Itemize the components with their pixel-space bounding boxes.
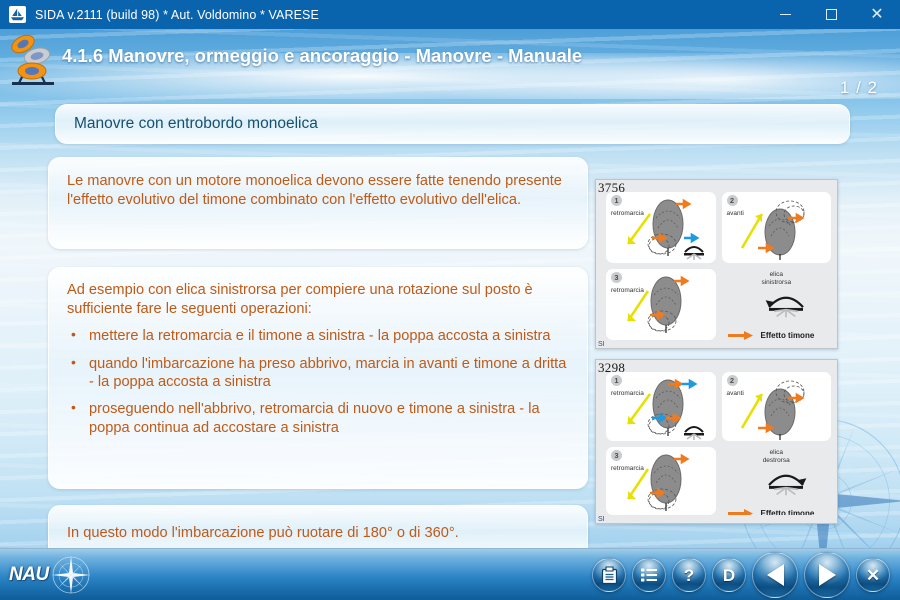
figure-cell-grid: 1 retromarcia <box>606 372 831 515</box>
boat-diagram-astern-2 <box>606 269 716 339</box>
figure-panel-destrorsa[interactable]: 3298 SI 1 retromarcia <box>595 359 838 524</box>
figure-cell-3: 3 retromarcia <box>606 269 716 340</box>
boat-diagram-astern-2 <box>606 447 716 516</box>
legend-item-rudder: Effetto timone <box>728 509 815 516</box>
step-badge: 3 <box>611 272 622 283</box>
brand-label: NAU <box>9 564 49 586</box>
legend-label: Effetto timone <box>761 509 815 516</box>
conclusion-text: In questo modo l'imbarcazione può ruotar… <box>67 524 459 543</box>
arrow-right-icon <box>819 564 836 586</box>
example-card: Ad esempio con elica sinistrorsa per com… <box>48 267 588 489</box>
close-button[interactable]: ✕ <box>856 558 890 592</box>
figure-cell-1: 1 retromarcia <box>606 372 716 441</box>
page-counter: 1 / 2 <box>840 78 878 98</box>
figure-cell-3: 3 retromarcia <box>606 447 716 516</box>
propeller-right-hand-icon <box>738 463 832 497</box>
intro-card: Le manovre con un motore monoelica devon… <box>48 157 588 249</box>
figure-cell-2: 2 avanti <box>722 192 832 263</box>
cell-label: retromarcia <box>611 287 644 294</box>
figure-legend-1: elica sinistrorsa <box>722 269 832 340</box>
step-badge: 3 <box>611 450 622 461</box>
example-lead-text: Ad esempio con elica sinistrorsa per com… <box>67 281 569 318</box>
index-button[interactable] <box>632 558 666 592</box>
document-icon <box>601 566 618 585</box>
letter-d-icon: D <box>723 567 735 584</box>
maximize-icon <box>826 9 837 20</box>
compass-rose-icon <box>49 554 93 596</box>
notes-button[interactable] <box>592 558 626 592</box>
cell-label: avanti <box>727 210 744 217</box>
step-badge: 1 <box>611 375 622 386</box>
boat-diagram-astern <box>606 372 716 441</box>
close-icon: ✕ <box>870 7 883 23</box>
section-title: Manovre con entrobordo monoelica <box>74 115 318 133</box>
figure-cell-grid: 1 retromarcia <box>606 192 831 340</box>
figure-legend-2: elica destrorsa <box>722 447 832 516</box>
figure-cell-2: 2 avanti <box>722 372 832 441</box>
list-item: proseguendo nell'abbrivo, retromarcia di… <box>67 400 569 437</box>
cell-label: retromarcia <box>611 465 644 472</box>
propeller-label-line1: elica <box>770 449 783 456</box>
orange-arrow-icon <box>728 331 754 340</box>
list-item: mettere la retromarcia e il timone a sin… <box>67 327 569 345</box>
figure-panel-sinistrorsa[interactable]: 3756 SI 1 retromarcia <box>595 179 838 349</box>
next-button[interactable] <box>804 552 850 598</box>
dictionary-button[interactable]: D <box>712 558 746 592</box>
boat-diagram-astern <box>606 192 716 262</box>
sailboat-icon <box>9 6 26 23</box>
legend-label: Effetto timone <box>761 331 815 340</box>
sida-logo <box>6 31 62 87</box>
legend-item-rudder: Effetto timone <box>728 331 815 340</box>
steps-list: mettere la retromarcia e il timone a sin… <box>67 327 569 437</box>
bottom-toolbar: NAU <box>0 548 900 600</box>
application-window: SIDA v.2111 (build 98) * Aut. Voldomino … <box>0 0 900 600</box>
propeller-label-line1: elica <box>770 271 783 278</box>
window-close-button[interactable]: ✕ <box>854 0 900 29</box>
figure-id: 3298 <box>598 360 625 376</box>
step-badge: 2 <box>727 375 738 386</box>
window-title-bar: SIDA v.2111 (build 98) * Aut. Voldomino … <box>0 0 900 29</box>
previous-button[interactable] <box>752 552 798 598</box>
propeller-left-hand-icon <box>738 285 832 319</box>
minimize-button[interactable] <box>762 0 808 29</box>
nau-brand: NAU <box>4 553 122 597</box>
figure-cell-1: 1 retromarcia <box>606 192 716 263</box>
intro-text: Le manovre con un motore monoelica devon… <box>67 172 569 209</box>
help-button[interactable]: ? <box>672 558 706 592</box>
lesson-header: 4.1.6 Manovre, ormeggio e ancoraggio - M… <box>0 29 900 91</box>
orange-arrow-icon <box>728 509 754 516</box>
list-icon <box>640 567 658 583</box>
figure-tag: SI <box>598 341 605 348</box>
question-mark-icon: ? <box>684 567 694 584</box>
list-item: quando l'imbarcazione ha preso abbrivo, … <box>67 355 569 392</box>
cell-label: avanti <box>727 390 744 397</box>
lesson-stage: 4.1.6 Manovre, ormeggio e ancoraggio - M… <box>0 29 900 600</box>
page-title: 4.1.6 Manovre, ormeggio e ancoraggio - M… <box>62 45 582 67</box>
toolbar-buttons: ? D ✕ <box>592 551 890 599</box>
window-title: SIDA v.2111 (build 98) * Aut. Voldomino … <box>35 8 319 22</box>
step-badge: 2 <box>727 195 738 206</box>
figure-tag: SI <box>598 516 605 523</box>
figure-id: 3756 <box>598 180 625 196</box>
step-badge: 1 <box>611 195 622 206</box>
close-x-icon: ✕ <box>866 567 880 584</box>
arrow-left-icon <box>767 564 784 586</box>
minimize-icon <box>780 14 791 16</box>
maximize-button[interactable] <box>808 0 854 29</box>
section-title-card: Manovre con entrobordo monoelica <box>55 104 850 144</box>
boat-diagram-ahead <box>722 372 832 441</box>
cell-label: retromarcia <box>611 210 644 217</box>
cell-label: retromarcia <box>611 390 644 397</box>
boat-diagram-ahead <box>722 192 832 262</box>
